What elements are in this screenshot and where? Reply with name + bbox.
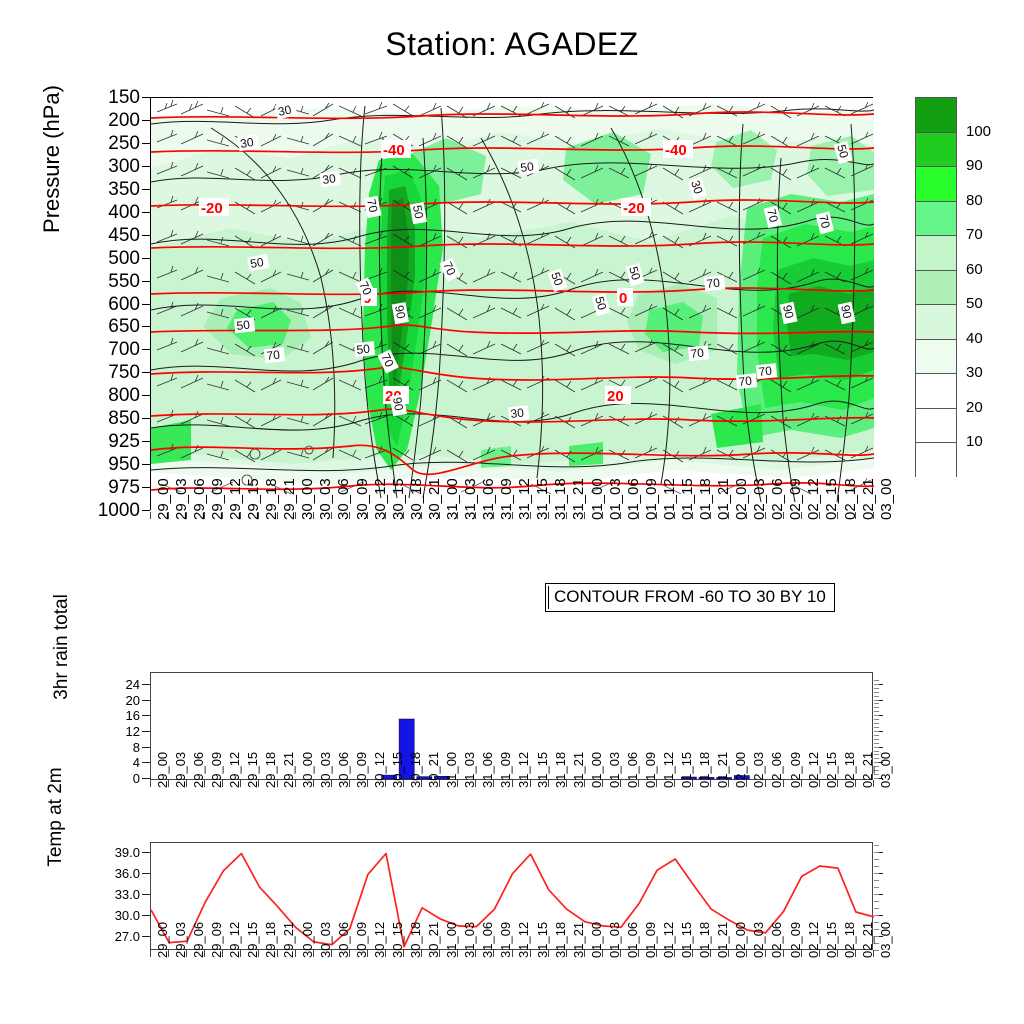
rain-tickmark — [142, 684, 150, 685]
rain-tickmark — [142, 731, 150, 732]
x-tickmark — [204, 512, 205, 519]
temp-ytick-39: 39.0 — [96, 846, 140, 859]
temp-tickmark — [142, 936, 150, 937]
x-tickmark — [349, 950, 350, 957]
x-tickmark — [150, 780, 151, 787]
x-tickmark — [765, 512, 766, 519]
x-tickmark — [512, 512, 513, 519]
temp-tickmark — [142, 852, 150, 853]
pressure-tickmark — [142, 326, 150, 327]
x-tickmark — [331, 512, 332, 519]
x-tickmark — [873, 950, 874, 957]
rain-ytick-16: 16 — [100, 709, 140, 722]
rain-tickmark — [142, 778, 150, 779]
x-tickmark — [331, 780, 332, 787]
x-tickmark — [783, 512, 784, 519]
rain-minor-tick — [874, 692, 879, 693]
pressure-tick-925: 925 — [80, 432, 140, 451]
x-tickmark — [837, 950, 838, 957]
pressure-tickmark — [142, 418, 150, 419]
x-tickmark — [710, 950, 711, 957]
x-tickmark — [222, 780, 223, 787]
x-tickmark — [566, 512, 567, 519]
x-tickmark — [638, 512, 639, 519]
x-tickmark — [692, 950, 693, 957]
temp-tickmark — [142, 894, 150, 895]
rain-minor-tick — [874, 727, 879, 728]
pressure-tickmark — [142, 120, 150, 121]
rain-minor-tick — [874, 696, 879, 697]
rain-ytick-24: 24 — [100, 678, 140, 691]
pressure-tickmark — [142, 510, 150, 511]
colorbar-band-2 — [916, 167, 956, 202]
x-tickmark — [746, 780, 747, 787]
x-tickmark — [620, 512, 621, 519]
x-tickmark — [403, 950, 404, 957]
colorbar-band-1 — [916, 133, 956, 168]
pressure-tick-1000: 1000 — [80, 501, 140, 520]
x-tickmark — [258, 512, 259, 519]
rain-minor-tick — [874, 747, 879, 748]
rain-minor-tick — [874, 723, 879, 724]
x-tickmark — [222, 512, 223, 519]
pressure-tickmark — [142, 166, 150, 167]
pressure-tickmark — [142, 235, 150, 236]
pressure-tickmark — [142, 441, 150, 442]
x-tickmark — [277, 950, 278, 957]
x-tickmark — [602, 780, 603, 787]
x-tickmark — [385, 950, 386, 957]
x-tickmark — [602, 950, 603, 957]
temp-minor-tick — [874, 859, 879, 860]
rain-minor-tick — [874, 700, 879, 701]
colorbar-label-50: 50 — [966, 296, 983, 311]
x-tick-03_00: 03_00 — [878, 922, 893, 958]
x-tickmark — [331, 950, 332, 957]
pressure-tickmark — [142, 372, 150, 373]
x-tickmark — [765, 950, 766, 957]
x-tickmark — [439, 780, 440, 787]
x-tickmark — [873, 780, 874, 787]
pressure-tickmark — [142, 464, 150, 465]
rain-minor-tick — [874, 731, 879, 732]
x-tickmark — [584, 512, 585, 519]
pressure-tick-350: 350 — [80, 180, 140, 199]
x-tickmark — [493, 512, 494, 519]
x-tickmark — [493, 950, 494, 957]
temp-ytick-27: 27.0 — [96, 930, 140, 943]
rain-tickmark — [142, 700, 150, 701]
x-tickmark — [295, 512, 296, 519]
pressure-tickmark — [142, 189, 150, 190]
rain-minor-tick — [874, 715, 879, 716]
pressure-tickmark — [142, 97, 150, 98]
pressure-tickmark — [142, 143, 150, 144]
x-tickmark — [313, 780, 314, 787]
pressure-tickmark — [142, 281, 150, 282]
temp-minor-tick — [874, 908, 879, 909]
colorbar-label-40: 40 — [966, 331, 983, 346]
rain-axis-label: 3hr rain total — [51, 557, 73, 737]
rain-minor-tick — [874, 739, 879, 740]
x-tickmark — [602, 512, 603, 519]
x-tickmark — [367, 950, 368, 957]
temp-ytick-30: 30.0 — [96, 909, 140, 922]
temp-ytick-33: 33.0 — [96, 888, 140, 901]
pressure-tick-250: 250 — [80, 134, 140, 153]
x-tickmark — [855, 780, 856, 787]
pressure-tick-600: 600 — [80, 295, 140, 314]
x-tickmark — [313, 512, 314, 519]
x-tickmark — [204, 780, 205, 787]
x-tickmark — [367, 512, 368, 519]
pressure-tick-850: 850 — [80, 409, 140, 428]
x-tickmark — [385, 780, 386, 787]
x-tickmark — [475, 780, 476, 787]
pressure-tick-975: 975 — [80, 478, 140, 497]
rain-minor-tick — [874, 688, 879, 689]
colorbar-label-30: 30 — [966, 365, 983, 380]
colorbar-label-60: 60 — [966, 262, 983, 277]
temp-minor-tick — [874, 894, 879, 895]
x-tickmark — [801, 780, 802, 787]
colorbar-band-8 — [916, 374, 956, 409]
temp-axis-label: Temp at 2m — [45, 727, 67, 907]
x-tickmark — [313, 950, 314, 957]
x-tickmark — [150, 950, 151, 957]
x-tickmark — [728, 780, 729, 787]
x-tickmark — [277, 512, 278, 519]
x-tickmark — [674, 950, 675, 957]
rain-minor-tick — [874, 711, 879, 712]
colorbar-band-4 — [916, 236, 956, 271]
x-tickmark — [837, 512, 838, 519]
x-tickmark — [674, 780, 675, 787]
rain-minor-tick — [874, 703, 879, 704]
pressure-tick-500: 500 — [80, 249, 140, 268]
pressure-tick-950: 950 — [80, 455, 140, 474]
x-tickmark — [746, 512, 747, 519]
pressure-tickmark — [142, 395, 150, 396]
colorbar-band-6 — [916, 305, 956, 340]
x-tickmark — [638, 950, 639, 957]
temp-tickmark — [142, 873, 150, 874]
rain-tickmark — [142, 762, 150, 763]
colorbar-band-7 — [916, 340, 956, 375]
colorbar-band-10 — [916, 443, 956, 478]
x-tickmark — [837, 780, 838, 787]
x-tickmark — [548, 950, 549, 957]
rain-minor-tick — [874, 743, 879, 744]
x-tickmark — [530, 780, 531, 787]
pressure-tick-750: 750 — [80, 363, 140, 382]
rain-ytick-12: 12 — [100, 725, 140, 738]
x-tickmark — [457, 512, 458, 519]
colorbar-label-90: 90 — [966, 158, 983, 173]
x-tickmark — [240, 950, 241, 957]
x-tickmark — [819, 950, 820, 957]
colorbar-band-5 — [916, 271, 956, 306]
x-tickmark — [349, 512, 350, 519]
temp-minor-tick — [874, 873, 879, 874]
pressure-tick-450: 450 — [80, 226, 140, 245]
temp-minor-tick — [874, 915, 879, 916]
rain-ytick-4: 4 — [100, 756, 140, 769]
x-tickmark — [258, 950, 259, 957]
pressure-tick-200: 200 — [80, 111, 140, 130]
x-tickmark — [728, 950, 729, 957]
temp-minor-tick — [874, 887, 879, 888]
x-tickmark — [204, 950, 205, 957]
rain-ytick-0: 0 — [100, 772, 140, 785]
x-tickmark — [710, 512, 711, 519]
x-tickmark — [819, 780, 820, 787]
x-tickmark — [656, 950, 657, 957]
rain-minor-tick — [874, 707, 879, 708]
x-tickmark — [475, 512, 476, 519]
x-tickmark — [765, 780, 766, 787]
colorbar-band-3 — [916, 202, 956, 237]
pressure-tick-150: 150 — [80, 88, 140, 107]
pressure-tick-800: 800 — [80, 386, 140, 405]
colorbar-label-100: 100 — [966, 124, 991, 139]
pressure-tick-300: 300 — [80, 157, 140, 176]
x-tickmark — [168, 512, 169, 519]
x-tickmark — [548, 512, 549, 519]
pressure-tickmark — [142, 212, 150, 213]
x-tickmark — [656, 780, 657, 787]
x-tickmark — [819, 512, 820, 519]
x-tickmark — [222, 950, 223, 957]
x-tickmark — [186, 512, 187, 519]
x-tickmark — [530, 950, 531, 957]
x-tickmark — [168, 780, 169, 787]
rain-tickmark — [142, 747, 150, 748]
x-tickmark — [566, 780, 567, 787]
x-tickmark — [512, 950, 513, 957]
x-tickmark — [439, 950, 440, 957]
pressure-tickmark — [142, 304, 150, 305]
colorbar-label-80: 80 — [966, 193, 983, 208]
x-tickmark — [801, 950, 802, 957]
x-tickmark — [584, 950, 585, 957]
rain-minor-tick — [874, 719, 879, 720]
x-tickmark — [295, 950, 296, 957]
x-tickmark — [674, 512, 675, 519]
x-tickmark — [439, 512, 440, 519]
x-tickmark — [258, 780, 259, 787]
x-tickmark — [801, 512, 802, 519]
x-tickmark — [240, 780, 241, 787]
x-tickmark — [783, 950, 784, 957]
x-tickmark — [457, 780, 458, 787]
x-tickmark — [168, 950, 169, 957]
x-tickmark — [638, 780, 639, 787]
colorbar-band-0 — [916, 98, 956, 133]
x-tick-03_00: 03_00 — [879, 478, 894, 520]
x-tickmark — [620, 950, 621, 957]
temp-minor-tick — [874, 845, 879, 846]
x-tickmark — [186, 780, 187, 787]
rain-minor-tick — [874, 735, 879, 736]
humidity-colorbar — [915, 97, 957, 477]
x-tickmark — [530, 512, 531, 519]
x-tickmark — [295, 780, 296, 787]
x-tickmark — [783, 780, 784, 787]
temp-minor-tick — [874, 901, 879, 902]
x-tickmark — [277, 780, 278, 787]
x-tickmark — [240, 512, 241, 519]
pressure-tick-550: 550 — [80, 272, 140, 291]
x-tickmark — [349, 780, 350, 787]
x-tickmark — [873, 512, 874, 519]
pressure-tickmark — [142, 258, 150, 259]
x-tickmark — [186, 950, 187, 957]
x-tickmark — [692, 780, 693, 787]
temp-tickmark — [142, 915, 150, 916]
x-tickmark — [746, 950, 747, 957]
x-tickmark — [421, 512, 422, 519]
x-tickmark — [512, 780, 513, 787]
colorbar-band-9 — [916, 409, 956, 444]
x-tickmark — [475, 950, 476, 957]
x-tickmark — [403, 512, 404, 519]
temp-minor-tick — [874, 852, 879, 853]
colorbar-label-70: 70 — [966, 227, 983, 242]
x-tickmark — [855, 950, 856, 957]
x-tickmark — [566, 950, 567, 957]
x-tickmark — [692, 512, 693, 519]
pressure-tick-650: 650 — [80, 317, 140, 336]
x-tickmark — [403, 780, 404, 787]
pressure-tick-400: 400 — [80, 203, 140, 222]
x-tickmark — [855, 512, 856, 519]
x-tickmark — [728, 512, 729, 519]
x-tickmark — [367, 780, 368, 787]
x-tickmark — [493, 780, 494, 787]
rain-ytick-8: 8 — [100, 741, 140, 754]
x-tickmark — [421, 780, 422, 787]
colorbar-label-10: 10 — [966, 434, 983, 449]
pressure-tickmark — [142, 349, 150, 350]
x-tick-03_00: 03_00 — [878, 752, 893, 788]
rain-minor-tick — [874, 680, 879, 681]
temp-ytick-36: 36.0 — [96, 867, 140, 880]
x-tickmark — [548, 780, 549, 787]
pressure-tickmark — [142, 487, 150, 488]
temp-minor-tick — [874, 866, 879, 867]
colorbar-label-20: 20 — [966, 400, 983, 415]
x-tickmark — [457, 950, 458, 957]
contour-caption: CONTOUR FROM -60 TO 30 BY 10 — [545, 583, 835, 612]
x-tickmark — [620, 780, 621, 787]
rain-tickmark — [142, 715, 150, 716]
x-tickmark — [710, 780, 711, 787]
x-tickmark — [150, 512, 151, 519]
x-tickmark — [656, 512, 657, 519]
x-tickmark — [385, 512, 386, 519]
x-tickmark — [584, 780, 585, 787]
temp-minor-tick — [874, 880, 879, 881]
rain-minor-tick — [874, 684, 879, 685]
rain-ytick-20: 20 — [100, 694, 140, 707]
pressure-tick-700: 700 — [80, 340, 140, 359]
x-tickmark — [421, 950, 422, 957]
